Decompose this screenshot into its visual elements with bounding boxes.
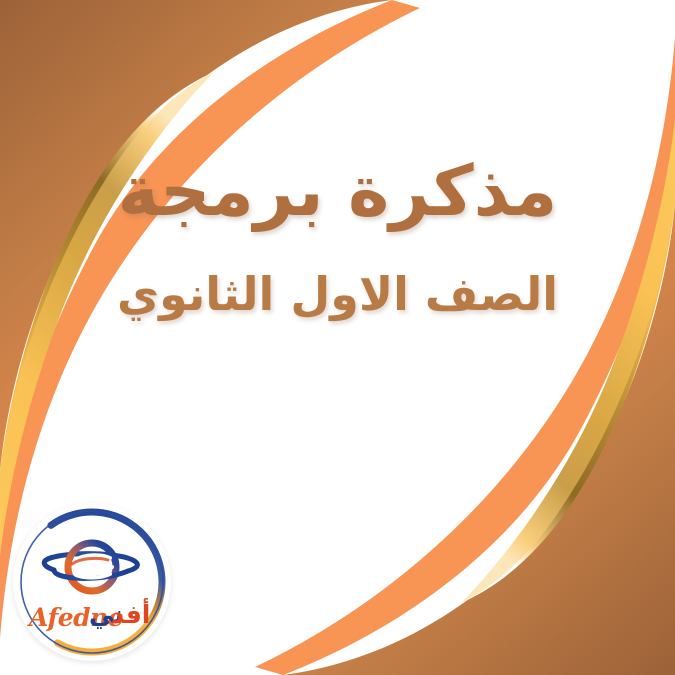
cover-page: مذكرة برمجة الصف الاول الثانوي	[0, 0, 675, 675]
page-subtitle: الصف الاول الثانوي	[0, 267, 675, 322]
page-title: مذكرة برمجة	[0, 150, 675, 233]
planet-globe-icon	[40, 536, 144, 598]
logo-wordmark: Afedne ني أفد	[27, 600, 157, 634]
swoosh-bottom-right-orange-band	[255, 37, 675, 675]
logo-content: Afedne ني أفد	[13, 503, 171, 661]
afedne-logo-badge[interactable]: Afedne ني أفد	[13, 503, 171, 661]
logo-arabic-orange: أفد	[111, 600, 150, 629]
cover-text-block: مذكرة برمجة الصف الاول الثانوي	[0, 150, 675, 322]
